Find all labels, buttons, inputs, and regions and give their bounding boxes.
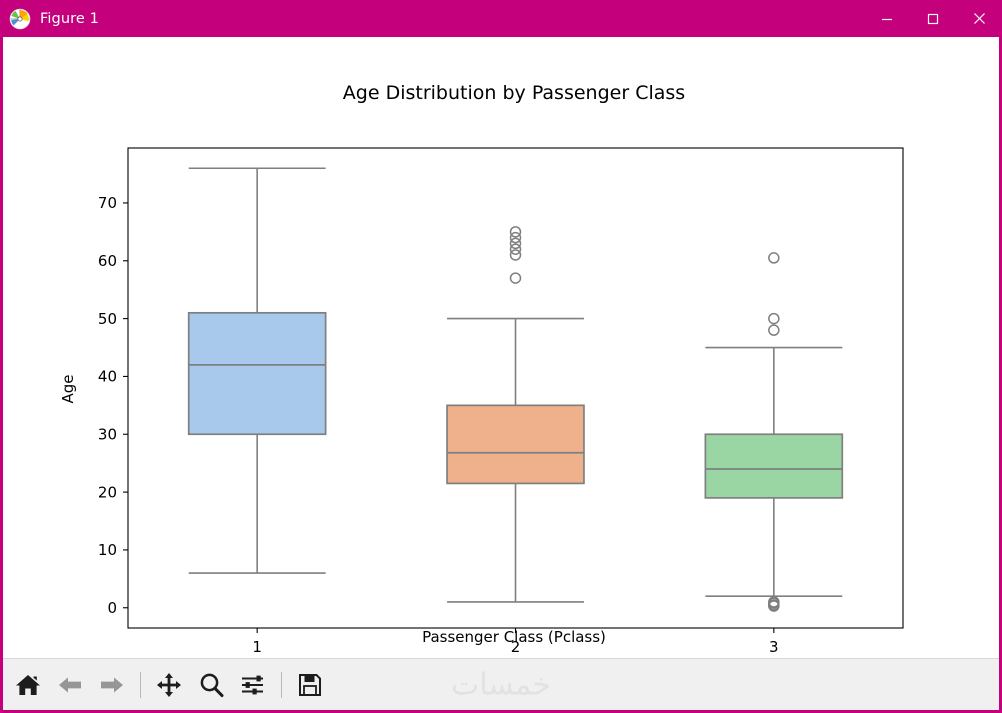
y-tick-label: 70 bbox=[98, 194, 117, 212]
forward-button[interactable] bbox=[93, 665, 131, 705]
window-controls bbox=[864, 0, 1002, 37]
window-titlebar[interactable]: Figure 1 bbox=[0, 0, 1002, 37]
matplotlib-icon bbox=[9, 8, 31, 30]
home-button[interactable] bbox=[9, 665, 47, 705]
move-icon bbox=[155, 671, 183, 699]
y-axis-label: Age bbox=[59, 374, 77, 403]
box-body[interactable] bbox=[447, 405, 584, 483]
boxplot-chart: Age Distribution by Passenger Class Age … bbox=[3, 37, 999, 658]
close-button[interactable] bbox=[956, 0, 1002, 37]
x-tick-label: 1 bbox=[252, 638, 262, 656]
chart-title: Age Distribution by Passenger Class bbox=[343, 82, 685, 104]
y-tick-label: 60 bbox=[98, 252, 117, 270]
zoom-button[interactable] bbox=[192, 665, 230, 705]
maximize-button[interactable] bbox=[910, 0, 956, 37]
home-icon bbox=[14, 671, 42, 699]
y-tick-label: 20 bbox=[98, 483, 117, 501]
y-tick-label: 10 bbox=[98, 541, 117, 559]
toolbar-separator-1 bbox=[140, 672, 141, 698]
x-tick-label: 3 bbox=[769, 638, 779, 656]
y-tick-label: 40 bbox=[98, 368, 117, 386]
floppy-disk-icon bbox=[296, 671, 324, 699]
left-arrow-icon bbox=[56, 671, 84, 699]
subplots-button[interactable] bbox=[234, 665, 272, 705]
figure-canvas-area[interactable]: Age Distribution by Passenger Class Age … bbox=[3, 37, 999, 658]
y-tick-label: 30 bbox=[98, 426, 117, 444]
magnifier-icon bbox=[197, 671, 225, 699]
window-title: Figure 1 bbox=[40, 11, 99, 27]
save-button[interactable] bbox=[291, 665, 329, 705]
back-button[interactable] bbox=[51, 665, 89, 705]
navigation-toolbar: خمسات bbox=[3, 658, 999, 710]
box-body[interactable] bbox=[189, 313, 326, 434]
right-arrow-icon bbox=[98, 671, 126, 699]
x-tick-label: 2 bbox=[511, 638, 521, 656]
figure-background bbox=[3, 37, 999, 658]
sliders-icon bbox=[239, 671, 267, 699]
pan-button[interactable] bbox=[150, 665, 188, 705]
toolbar-separator-2 bbox=[281, 672, 282, 698]
y-tick-label: 0 bbox=[107, 599, 117, 617]
box-body[interactable] bbox=[705, 434, 842, 498]
y-tick-label: 50 bbox=[98, 310, 117, 328]
minimize-button[interactable] bbox=[864, 0, 910, 37]
figure-window: Figure 1 Age Distribution by Passenger C… bbox=[0, 0, 1002, 713]
